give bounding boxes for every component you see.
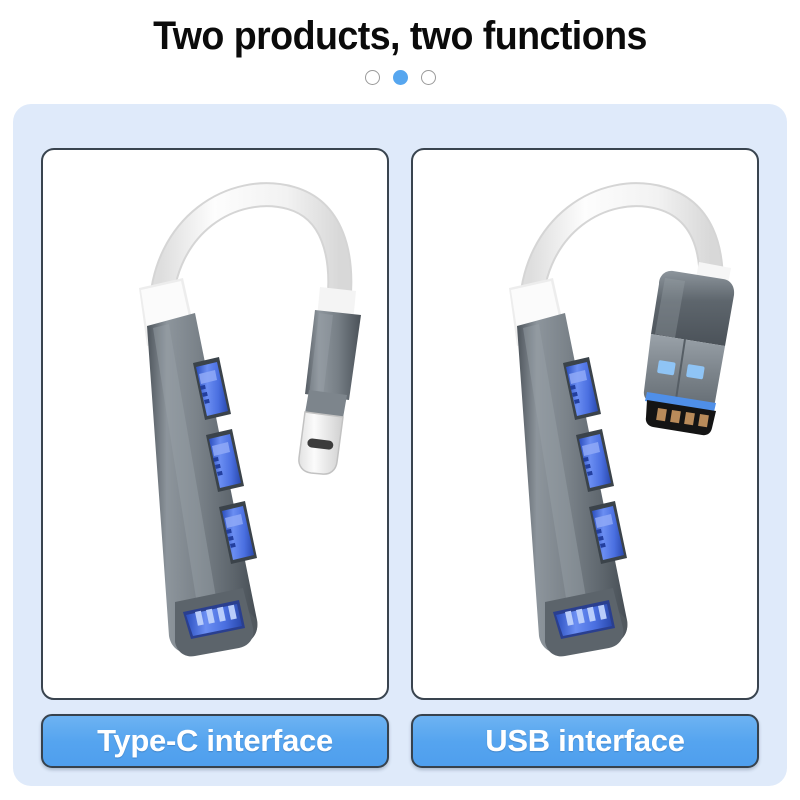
- label-text-usb: USB interface: [485, 723, 684, 759]
- product-card-type-c[interactable]: [41, 148, 389, 700]
- label-text-type-c: Type-C interface: [97, 723, 333, 759]
- usb-hub-type-c-illustration: [43, 150, 387, 698]
- usb-hub-usb-a-illustration: [413, 150, 757, 698]
- label-bar-usb[interactable]: USB interface: [411, 714, 759, 768]
- label-bar-type-c[interactable]: Type-C interface: [41, 714, 389, 768]
- page-title: Two products, two functions: [24, 14, 776, 59]
- product-image-type-c: [43, 150, 387, 698]
- comparison-panel: Type-C interface USB interface: [13, 104, 787, 786]
- carousel-dot-3[interactable]: [421, 70, 436, 85]
- carousel-dots: [0, 70, 800, 85]
- product-image-usb: [413, 150, 757, 698]
- product-feature-image: Two products, two functions: [0, 0, 800, 800]
- carousel-dot-1[interactable]: [365, 70, 380, 85]
- product-card-usb[interactable]: [411, 148, 759, 700]
- carousel-dot-2[interactable]: [393, 70, 408, 85]
